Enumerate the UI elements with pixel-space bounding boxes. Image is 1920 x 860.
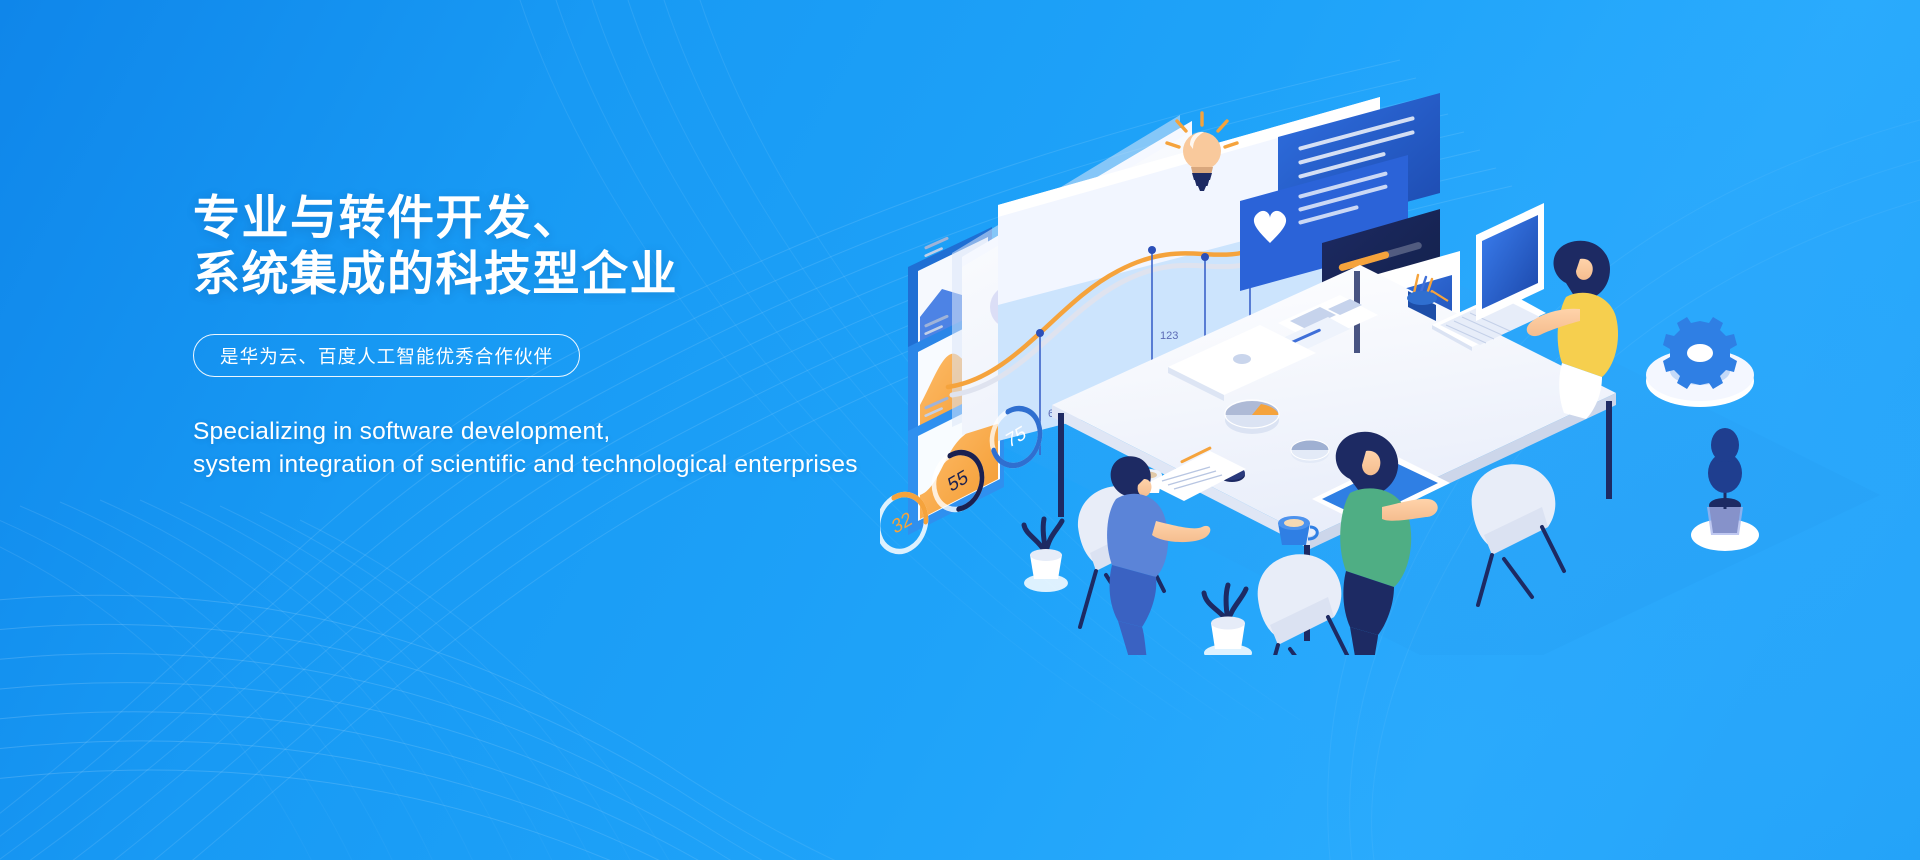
gear-icon [1646, 317, 1754, 407]
hero-subtitle: Specializing in software development, sy… [193, 415, 953, 481]
plant-small-left [1024, 519, 1068, 592]
partner-badge: 是华为云、百度人工智能优秀合作伙伴 [193, 334, 580, 377]
subtitle-line-1: Specializing in software development, [193, 415, 953, 448]
page-title: 专业与转件开发、 系统集成的科技型企业 [193, 190, 953, 302]
hero-banner: 专业与转件开发、 系统集成的科技型企业 是华为云、百度人工智能优秀合作伙伴 Sp… [0, 0, 1920, 860]
chart-label-2: 123 [1160, 330, 1178, 342]
headline-line-1: 专业与转件开发、 [193, 190, 953, 246]
hero-copy: 专业与转件开发、 系统集成的科技型企业 是华为云、百度人工智能优秀合作伙伴 Sp… [193, 190, 953, 481]
pie-chart-large [1225, 400, 1279, 434]
plant-small-bottom [1204, 585, 1252, 655]
hero-illustration: 65 123 97 81 [880, 75, 1900, 655]
pie-chart-small [1291, 440, 1329, 463]
headline-line-2: 系统集成的科技型企业 [193, 246, 953, 302]
subtitle-line-2: system integration of scientific and tec… [193, 448, 953, 481]
